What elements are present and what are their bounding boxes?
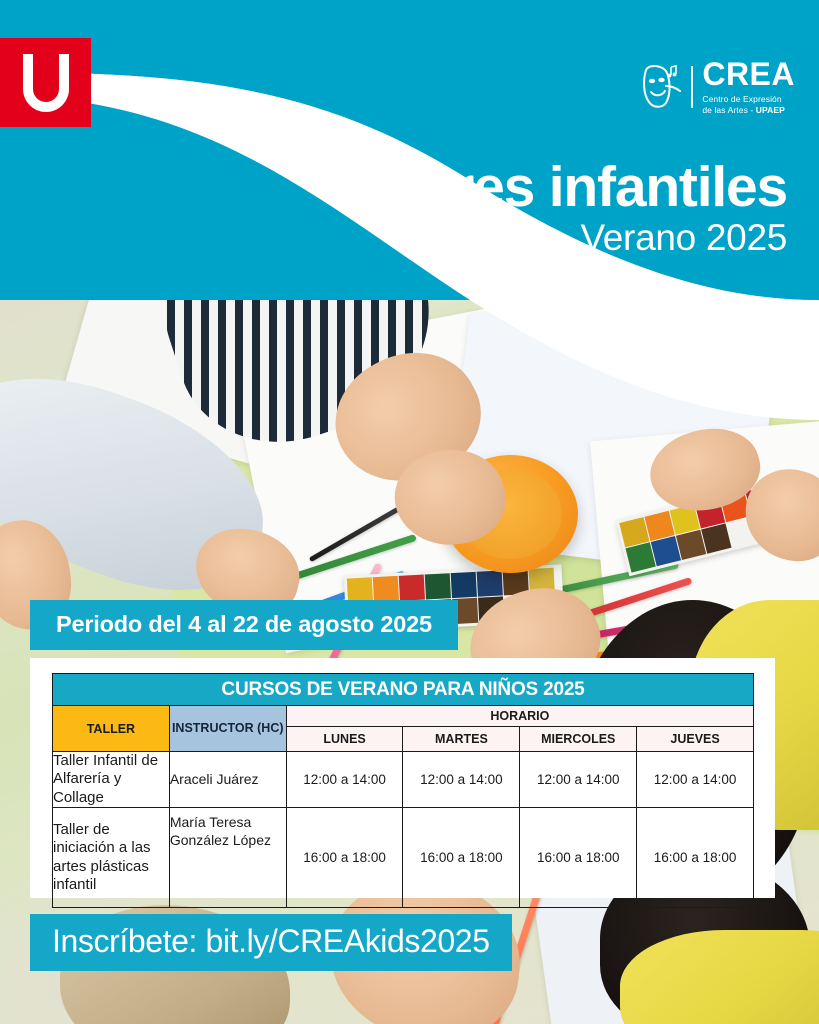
col-header-jueves: JUEVES bbox=[637, 727, 754, 752]
photo-paint-pan bbox=[701, 523, 731, 553]
page-title: Talleres infantiles bbox=[333, 158, 788, 216]
photo-paint-pan bbox=[373, 576, 399, 602]
schedule-panel: CURSOS DE VERANO PARA NIÑOS 2025 TALLER … bbox=[30, 658, 775, 898]
cell-martes: 12:00 a 14:00 bbox=[403, 752, 520, 808]
poster-root: CREA Centro de Expresión de las Artes - … bbox=[0, 0, 819, 1024]
table-row: Taller de iniciación a las artes plástic… bbox=[53, 808, 754, 908]
crea-wordmark: CREA bbox=[702, 58, 795, 90]
crea-tagline: Centro de Expresión de las Artes - UPAEP bbox=[702, 94, 795, 117]
photo-paint-pan bbox=[425, 573, 451, 599]
table-caption-row: CURSOS DE VERANO PARA NIÑOS 2025 bbox=[53, 674, 754, 706]
table-row: Taller Infantil de Alfarería y Collage A… bbox=[53, 752, 754, 808]
cell-lunes: 16:00 a 18:00 bbox=[286, 808, 403, 908]
signup-link-banner[interactable]: Inscríbete: bit.ly/CREAkids2025 bbox=[30, 914, 512, 971]
col-header-instructor: INSTRUCTOR (HC) bbox=[169, 706, 286, 752]
photo-paint-pan bbox=[399, 575, 425, 601]
col-header-taller: TALLER bbox=[53, 706, 170, 752]
logo-divider bbox=[691, 66, 693, 108]
schedule-table: CURSOS DE VERANO PARA NIÑOS 2025 TALLER … bbox=[52, 673, 754, 908]
photo-paint-pan bbox=[477, 570, 503, 596]
crea-tagline-line2-prefix: de las Artes - bbox=[702, 105, 755, 115]
cell-taller: Taller Infantil de Alfarería y Collage bbox=[53, 752, 170, 808]
crea-tagline-upaep: UPAEP bbox=[756, 105, 785, 115]
crea-logo: CREA Centro de Expresión de las Artes - … bbox=[640, 58, 795, 117]
cell-taller: Taller de iniciación a las artes plástic… bbox=[53, 808, 170, 908]
crea-logo-text: CREA Centro de Expresión de las Artes - … bbox=[702, 58, 795, 117]
cell-martes: 16:00 a 18:00 bbox=[403, 808, 520, 908]
cell-lunes: 12:00 a 14:00 bbox=[286, 752, 403, 808]
col-header-lunes: LUNES bbox=[286, 727, 403, 752]
col-header-martes: MARTES bbox=[403, 727, 520, 752]
photo-paint-pan bbox=[451, 572, 477, 598]
col-group-horario: HORARIO bbox=[286, 706, 753, 727]
upaep-logo bbox=[0, 38, 91, 127]
period-banner: Periodo del 4 al 22 de agosto 2025 bbox=[30, 600, 458, 650]
cell-miercoles: 12:00 a 14:00 bbox=[520, 752, 637, 808]
cell-instructor: Araceli Juárez bbox=[169, 752, 286, 808]
crea-tagline-line1: Centro de Expresión bbox=[702, 94, 781, 104]
table-header-row-1: TALLER INSTRUCTOR (HC) HORARIO bbox=[53, 706, 754, 727]
cell-jueves: 16:00 a 18:00 bbox=[637, 808, 754, 908]
table-caption: CURSOS DE VERANO PARA NIÑOS 2025 bbox=[53, 674, 754, 706]
upaep-u-icon bbox=[23, 54, 69, 112]
theater-mask-icon bbox=[640, 64, 682, 110]
title-block: Talleres infantiles Verano 2025 bbox=[333, 158, 788, 259]
cell-jueves: 12:00 a 14:00 bbox=[637, 752, 754, 808]
cell-instructor: María Teresa González López bbox=[169, 808, 286, 908]
col-header-miercoles: MIERCOLES bbox=[520, 727, 637, 752]
page-subtitle: Verano 2025 bbox=[333, 218, 788, 259]
cell-miercoles: 16:00 a 18:00 bbox=[520, 808, 637, 908]
